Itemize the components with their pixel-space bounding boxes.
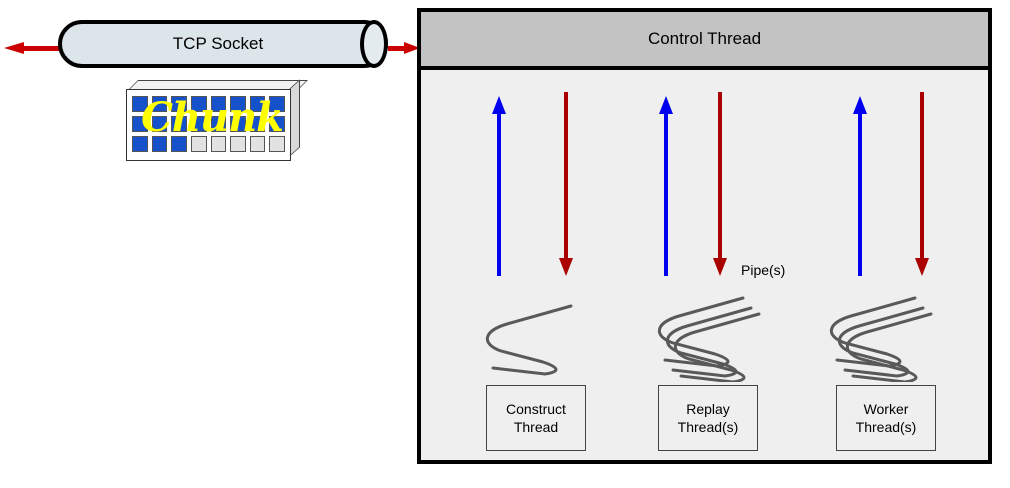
- chunk-cell-0-3: [191, 96, 207, 112]
- chunk-cell-2-5: [230, 136, 246, 152]
- thread-box-replay[interactable]: Replay Thread(s): [658, 385, 758, 451]
- thread-squiggle-construct: [473, 298, 583, 383]
- arrow-head-down-icon: [559, 258, 573, 276]
- arrow-shaft: [718, 92, 722, 266]
- arrow-shaft: [920, 92, 924, 266]
- thread-box-label: Worker Thread(s): [856, 400, 917, 436]
- chunk-cell-2-7: [269, 136, 285, 152]
- chunk-row: [132, 136, 285, 152]
- chunk-row: [132, 96, 285, 112]
- chunk-cell-1-2: [171, 116, 187, 132]
- red-down-arrow-1: [559, 92, 573, 276]
- thread-box-label: Construct Thread: [506, 400, 566, 436]
- chunk-row: [132, 116, 285, 132]
- control-thread-header: Control Thread: [421, 12, 988, 70]
- blue-up-arrow-3: [853, 96, 867, 276]
- thread-box-worker[interactable]: Worker Thread(s): [836, 385, 936, 451]
- chunk-cell-2-6: [250, 136, 266, 152]
- chunk-cell-0-6: [250, 96, 266, 112]
- chunk-cell-1-4: [211, 116, 227, 132]
- arrow-head-down-icon: [915, 258, 929, 276]
- chunk-cell-2-4: [211, 136, 227, 152]
- chunk-cell-1-6: [250, 116, 266, 132]
- arrow-shaft: [564, 92, 568, 266]
- pipe-label: Pipe(s): [741, 262, 785, 278]
- chunk-cell-0-0: [132, 96, 148, 112]
- chunk-cell-1-7: [269, 116, 285, 132]
- chunk-cell-1-3: [191, 116, 207, 132]
- chunk-cell-2-1: [152, 136, 168, 152]
- arrow-shaft: [664, 106, 668, 276]
- chunk-cell-1-5: [230, 116, 246, 132]
- chunk-cell-0-5: [230, 96, 246, 112]
- thread-squiggle-replay: [639, 292, 769, 387]
- outbound-red-arrow: [4, 42, 62, 54]
- chunk-cell-0-1: [152, 96, 168, 112]
- diagram-canvas: TCP Socket Chunk Control Thread: [0, 0, 1010, 488]
- chunk-cell-grid: [126, 89, 291, 161]
- chunk-cell-0-2: [171, 96, 187, 112]
- chunk-box-group: Chunk: [118, 80, 308, 170]
- tcp-socket-label: TCP Socket: [58, 20, 378, 68]
- red-down-arrow-3: [915, 92, 929, 276]
- arrow-shaft: [497, 106, 501, 276]
- blue-up-arrow-1: [492, 96, 506, 276]
- arrow-head-left-icon: [4, 42, 24, 54]
- chunk-cell-1-0: [132, 116, 148, 132]
- chunk-cell-0-4: [211, 96, 227, 112]
- chunk-cell-1-1: [152, 116, 168, 132]
- thread-squiggle-worker: [811, 292, 941, 387]
- chunk-cell-2-3: [191, 136, 207, 152]
- thread-box-construct[interactable]: Construct Thread: [486, 385, 586, 451]
- thread-box-label: Replay Thread(s): [678, 400, 739, 436]
- chunk-cell-0-7: [269, 96, 285, 112]
- arrow-shaft: [858, 106, 862, 276]
- control-thread-body: Pipe(s): [421, 70, 988, 460]
- tcp-socket-group: TCP Socket: [0, 8, 420, 72]
- red-down-arrow-2: [713, 92, 727, 276]
- blue-up-arrow-2: [659, 96, 673, 276]
- inbound-red-arrow: [388, 42, 420, 54]
- arrow-head-down-icon: [713, 258, 727, 276]
- chunk-cell-2-2: [171, 136, 187, 152]
- control-thread-panel: Control Thread Pipe(s): [417, 8, 992, 464]
- chunk-cell-2-0: [132, 136, 148, 152]
